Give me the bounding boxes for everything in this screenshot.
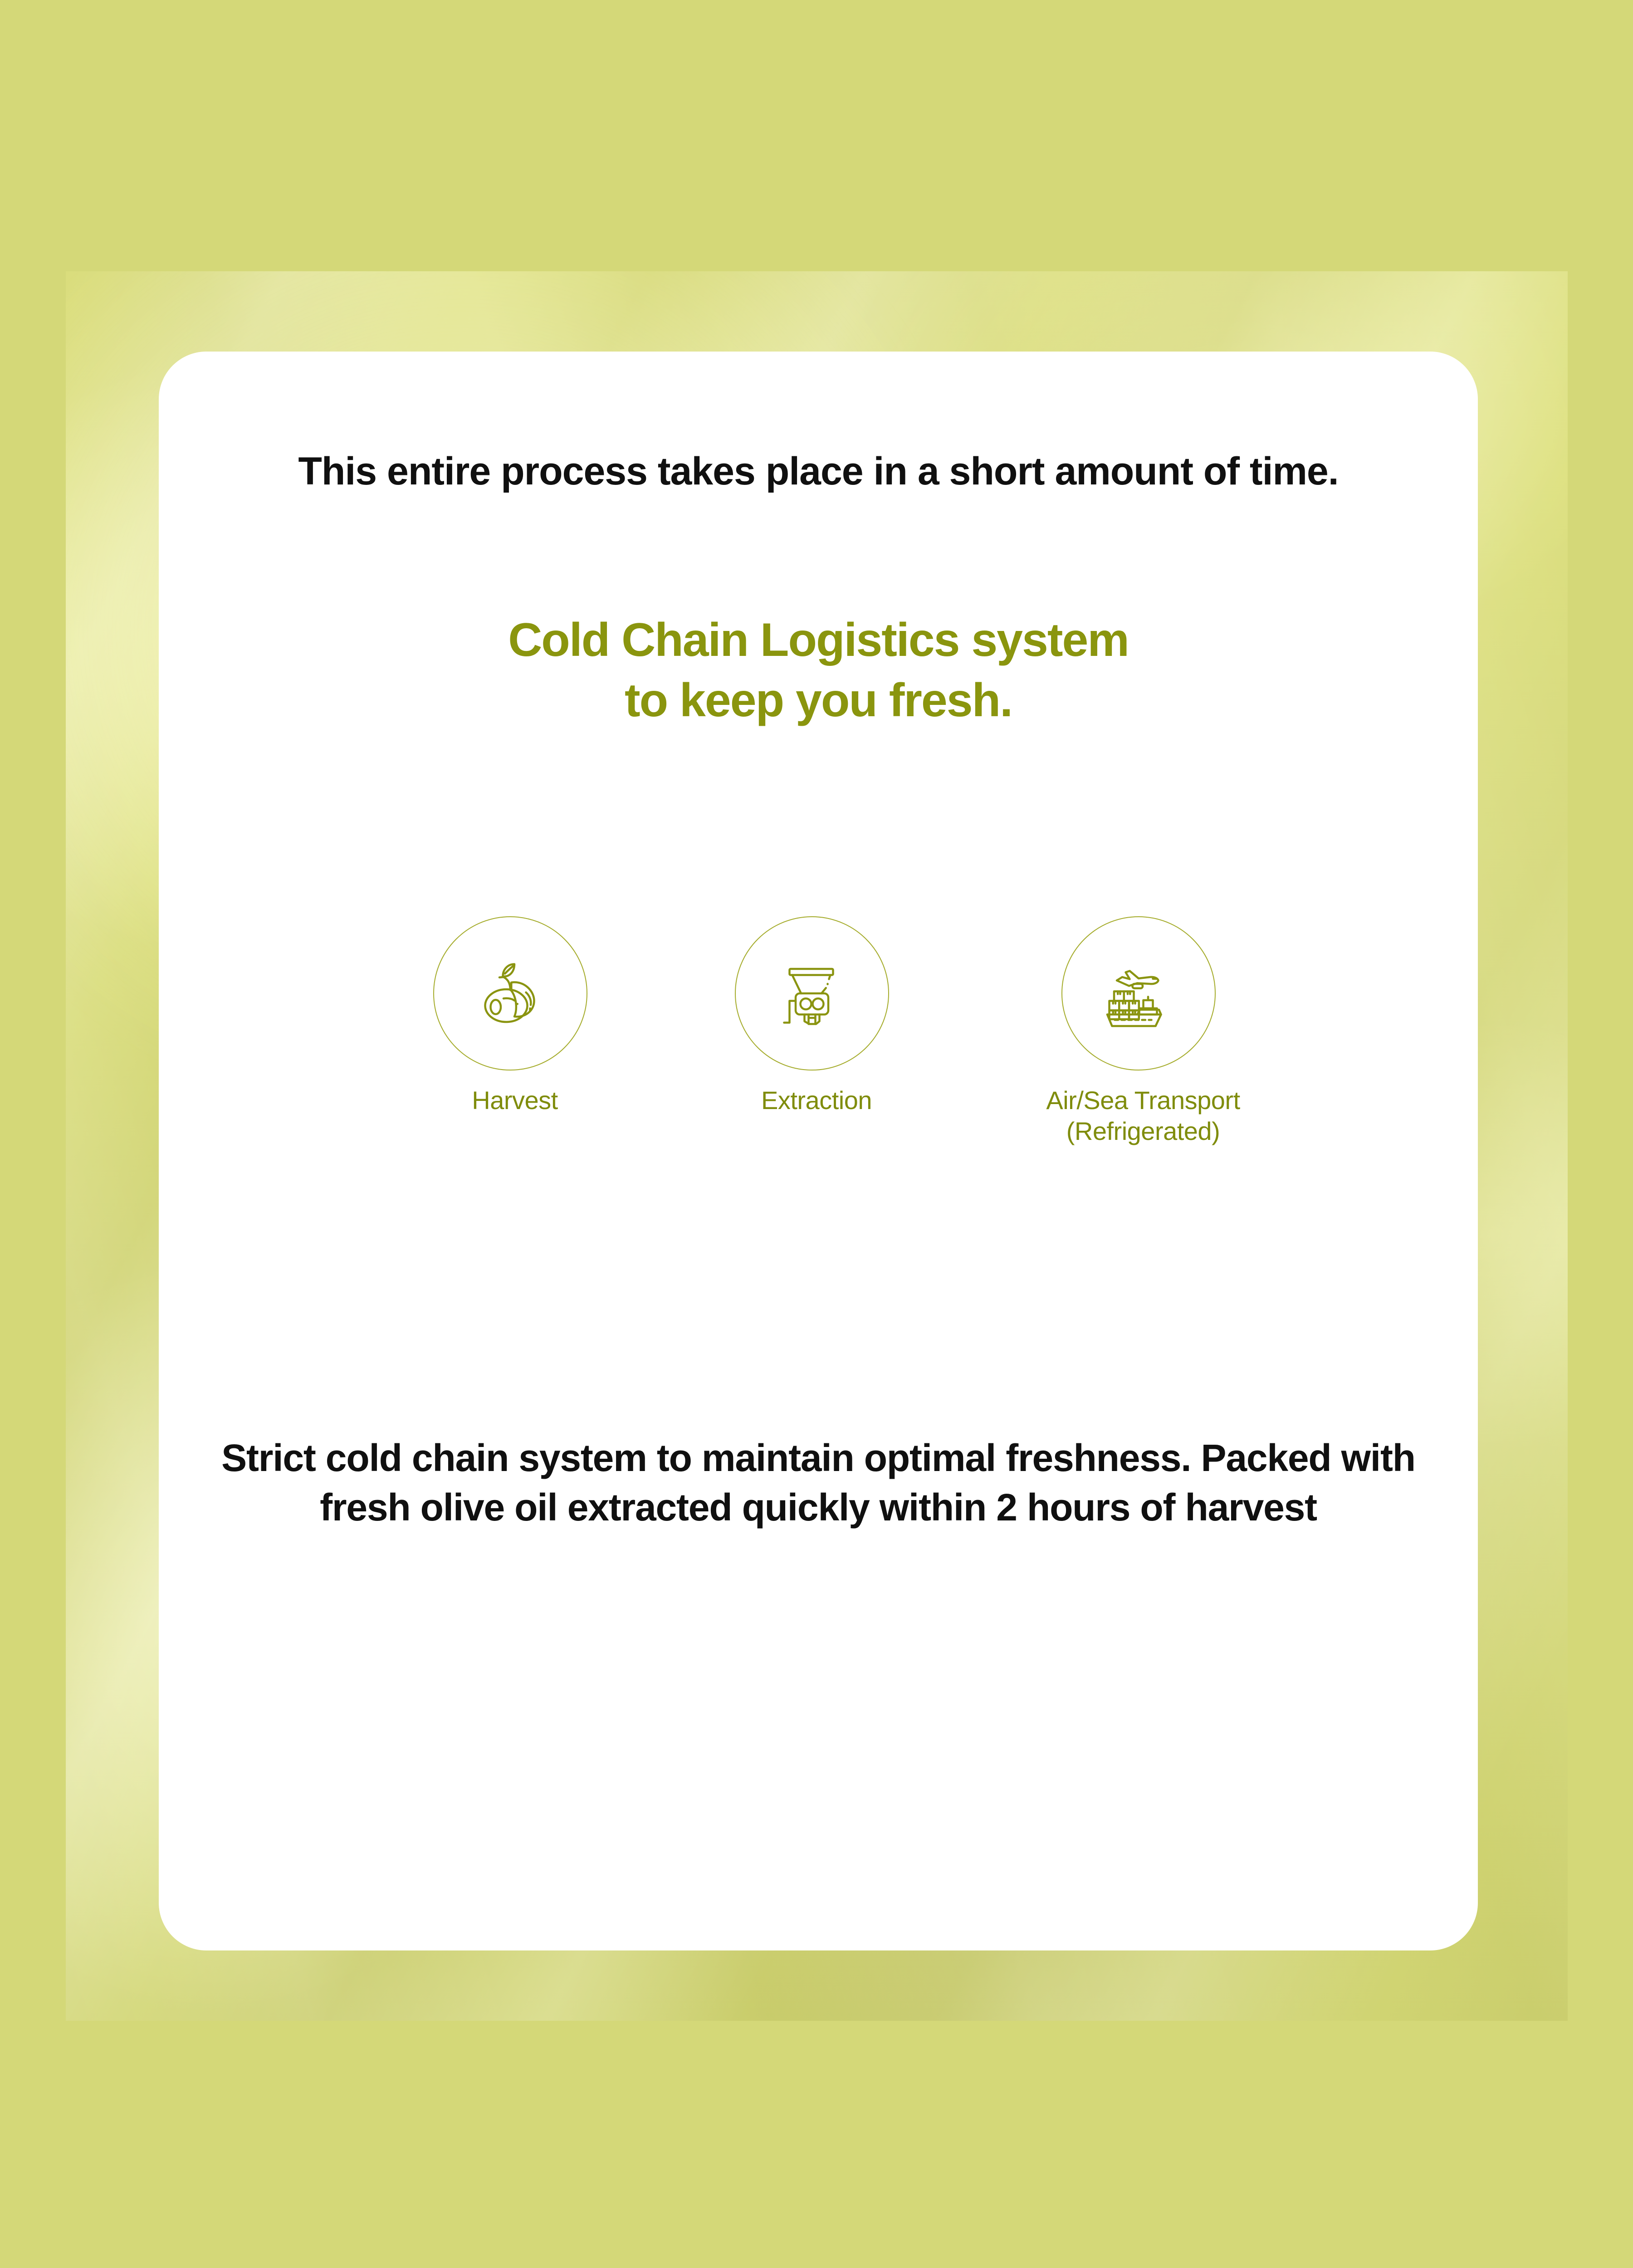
cold-chain-steps: Harvest <box>159 916 1478 1261</box>
step-label-line-1: Harvest <box>374 1085 655 1116</box>
olive-press-mill-icon <box>735 916 889 1070</box>
headline-line-1: Cold Chain Logistics system <box>227 610 1410 670</box>
step-label: Air/Sea Transport (Refrigerated) <box>1002 1085 1284 1147</box>
page-background: This entire process takes place in a sho… <box>0 0 1633 2268</box>
step-label: Harvest <box>374 1085 655 1116</box>
olives-with-leaf-icon <box>433 916 587 1070</box>
content-card: This entire process takes place in a sho… <box>159 352 1478 1950</box>
intro-text: This entire process takes place in a sho… <box>159 447 1478 496</box>
headline: Cold Chain Logistics system to keep you … <box>159 610 1478 731</box>
summary-text: Strict cold chain system to maintain opt… <box>159 1433 1478 1532</box>
step-label-line-2: (Refrigerated) <box>1002 1116 1284 1147</box>
step-label: Extraction <box>676 1085 957 1116</box>
headline-line-2: to keep you fresh. <box>227 670 1410 731</box>
step-label-line-1: Extraction <box>676 1085 957 1116</box>
step-label-line-1: Air/Sea Transport <box>1002 1085 1284 1116</box>
air-sea-freight-icon <box>1061 916 1216 1070</box>
